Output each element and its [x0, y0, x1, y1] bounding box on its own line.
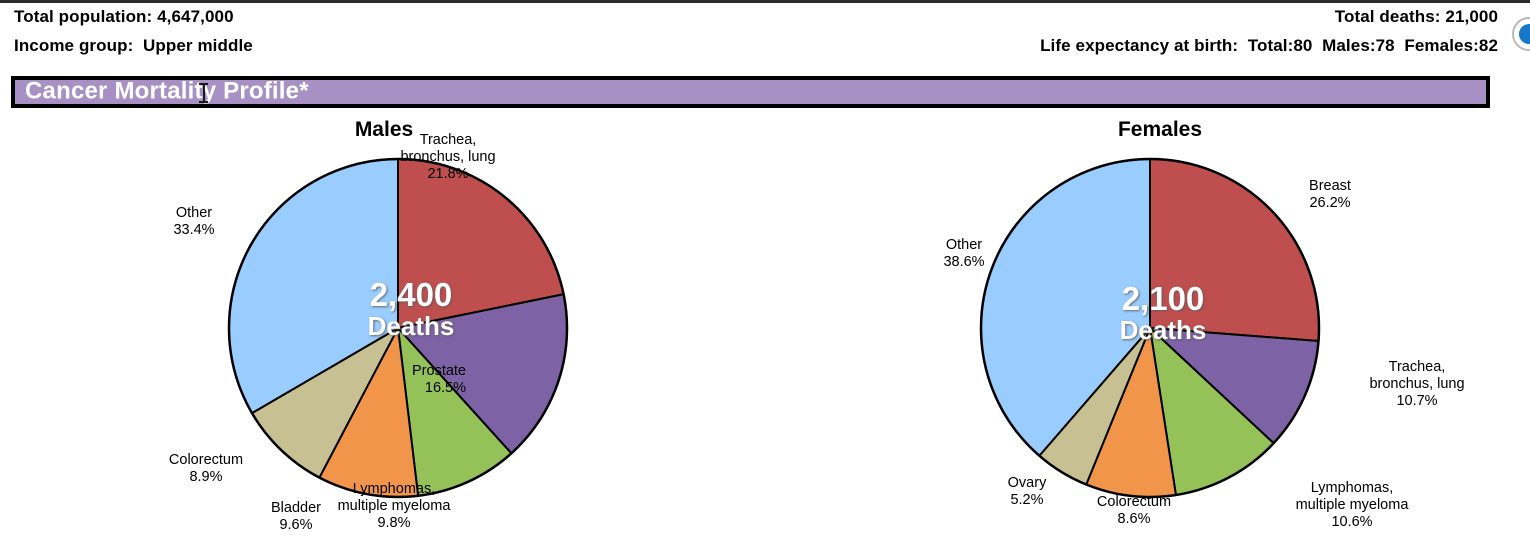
cancer-mortality-profile-banner: Cancer Mortality Profile* — [11, 76, 1490, 108]
males-label-prostate: Prostate16.5% — [346, 363, 466, 397]
charts-area: Males 2,400 Deaths Trachea,bronchus, lun… — [0, 112, 1530, 548]
males-label-trachea: Trachea,bronchus, lung21.8% — [348, 132, 548, 183]
females-label-ovary: Ovary5.2% — [972, 475, 1082, 509]
total-deaths-text: Total deaths: 21,000 — [1335, 7, 1498, 27]
males-label-colorectum: Colorectum8.9% — [126, 452, 286, 486]
females-chart-panel: Females 2,100 Deaths Breast26.2% Trachea… — [792, 112, 1530, 548]
females-label-lymphomas: Lymphomas,multiple myeloma10.6% — [1242, 480, 1462, 531]
header: Total population: 4,647,000 Income group… — [0, 3, 1530, 65]
females-label-trachea: Trachea,bronchus, lung10.7% — [1317, 359, 1517, 410]
banner-title: Cancer Mortality Profile* — [25, 77, 309, 105]
males-chart-panel: Males 2,400 Deaths Trachea,bronchus, lun… — [16, 112, 776, 548]
circle-badge-icon[interactable] — [1512, 17, 1530, 51]
males-label-bladder: Bladder9.6% — [226, 500, 366, 534]
females-chart-title: Females — [780, 118, 1530, 142]
males-pie-chart[interactable] — [226, 156, 570, 500]
males-label-other: Other33.4% — [144, 205, 244, 239]
males-pie-svg — [226, 156, 570, 500]
circle-badge-inner-dot — [1519, 24, 1530, 44]
females-label-breast: Breast26.2% — [1270, 178, 1390, 212]
life-expectancy-text: Life expectancy at birth: Total:80 Males… — [1040, 36, 1498, 56]
total-population-text: Total population: 4,647,000 — [14, 7, 234, 27]
females-label-other: Other38.6% — [914, 237, 1014, 271]
income-group-text: Income group: Upper middle — [14, 36, 253, 56]
